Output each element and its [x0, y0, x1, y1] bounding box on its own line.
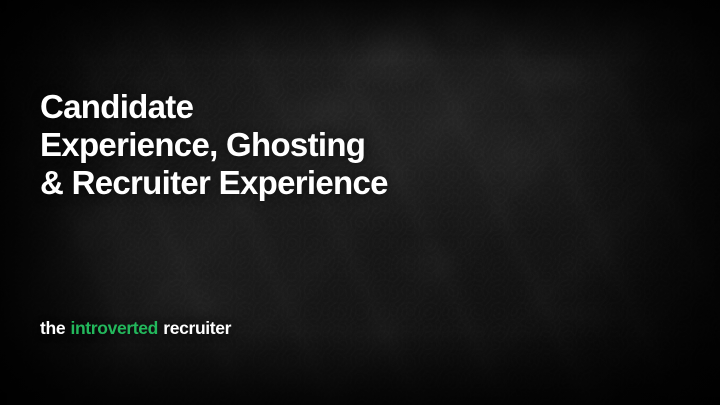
wordmark-the: the: [40, 318, 65, 338]
wordmark-recruiter: recruiter: [163, 318, 231, 338]
slide-title: Candidate Experience, Ghosting & Recruit…: [40, 88, 388, 202]
title-slide: Candidate Experience, Ghosting & Recruit…: [0, 0, 720, 405]
wordmark-introverted: introverted: [70, 318, 158, 338]
brand-wordmark: theintrovertedrecruiter: [40, 320, 231, 338]
slide-content: Candidate Experience, Ghosting & Recruit…: [0, 0, 720, 405]
